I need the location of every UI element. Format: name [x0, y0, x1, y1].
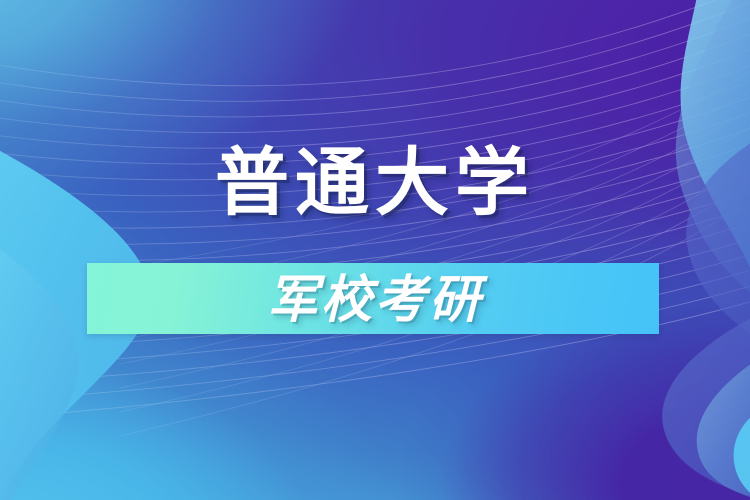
banner-content: 普通大学 军校考研: [0, 0, 750, 500]
promo-banner: 普通大学 军校考研: [0, 0, 750, 500]
page-title: 普通大学: [0, 143, 750, 223]
subtitle-text: 军校考研: [0, 272, 750, 328]
